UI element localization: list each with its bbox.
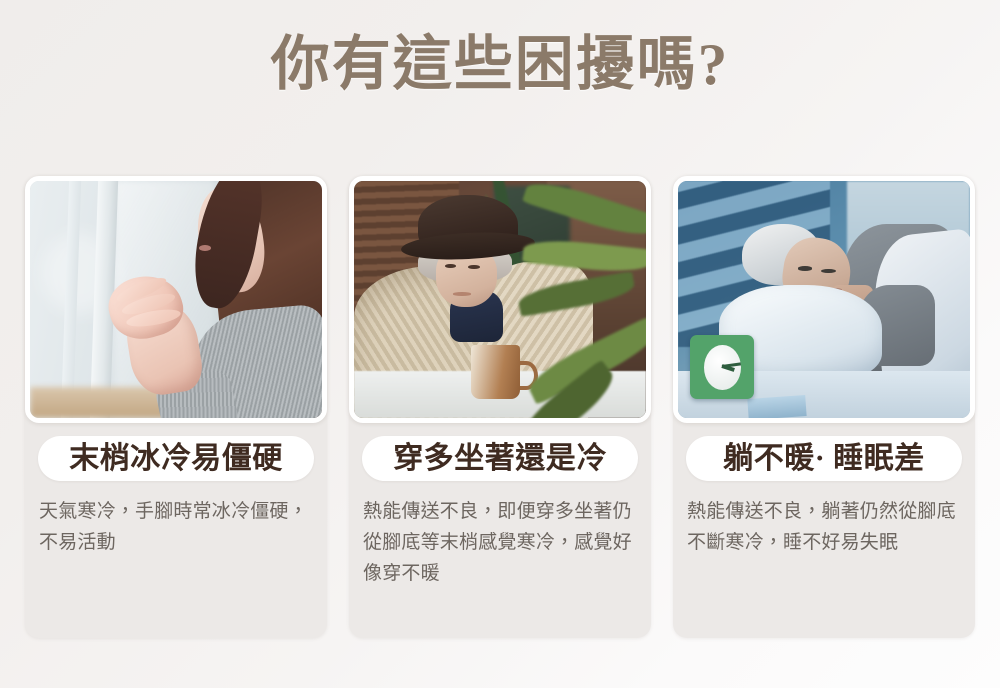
scene-blanket-woman-illustration — [354, 181, 646, 418]
page-title: 你有這些困擾嗎? — [0, 34, 1000, 96]
card-body-cold-while-sitting: 熱能傳送不良，即便穿多坐著仍從腳底等末梢感覺寒冷，感覺好像穿不暖 — [363, 497, 637, 589]
card-title-cold-extremities: 末梢冰冷易僵硬 — [38, 436, 314, 481]
problem-card-cold-extremities: 末梢冰冷易僵硬 天氣寒冷，手腳時常冰冷僵硬，不易活動 — [25, 176, 327, 638]
card-body-poor-sleep: 熱能傳送不良，躺著仍然從腳底不斷寒冷，睡不好易失眠 — [687, 497, 961, 559]
card-photo-blanket-woman — [349, 176, 651, 423]
card-title-poor-sleep: 躺不暖· 睡眠差 — [686, 436, 962, 481]
card-photo-cold-hands — [25, 176, 327, 423]
card-title-cold-while-sitting: 穿多坐著還是冷 — [362, 436, 638, 481]
problem-card-cold-while-sitting: 穿多坐著還是冷 熱能傳送不良，即便穿多坐著仍從腳底等末梢感覺寒冷，感覺好像穿不暖 — [349, 176, 651, 638]
problem-card-list: 末梢冰冷易僵硬 天氣寒冷，手腳時常冰冷僵硬，不易活動 — [25, 176, 975, 638]
card-photo-sleepless-woman — [673, 176, 975, 423]
problem-card-poor-sleep: 躺不暖· 睡眠差 熱能傳送不良，躺著仍然從腳底不斷寒冷，睡不好易失眠 — [673, 176, 975, 638]
scene-sleepless-woman-illustration — [678, 181, 970, 418]
card-body-cold-extremities: 天氣寒冷，手腳時常冰冷僵硬，不易活動 — [39, 497, 313, 559]
scene-cold-hands-illustration — [30, 181, 322, 418]
